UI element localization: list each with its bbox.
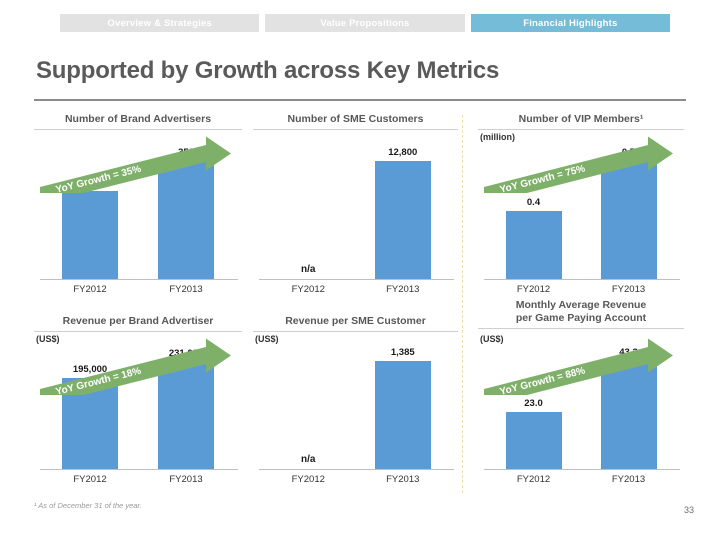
chart-title-sme-customers: Number of SME Customers xyxy=(253,113,458,126)
bar-brand-advertisers-FY2013 xyxy=(158,161,214,279)
chart-panel-brand-advertisers: Number of Brand Advertisers xyxy=(34,113,242,130)
page-title: Supported by Growth across Key Metrics xyxy=(36,57,499,85)
chart-unit-revenue-per-sme-customer: (US$) xyxy=(255,334,279,344)
chart-title-rule-vip-members xyxy=(478,129,684,130)
axis-label-sme-customers-FY2013: FY2013 xyxy=(353,284,453,295)
nav-tab-3[interactable]: Financial Highlights xyxy=(471,14,670,32)
axis-label-revenue-per-brand-advertiser-FY2012: FY2012 xyxy=(40,474,140,485)
axis-label-vip-members-FY2012: FY2012 xyxy=(484,284,584,295)
bar-monthly-arpu-game-FY2012 xyxy=(506,412,562,470)
chart-panel-revenue-per-brand-advertiser: Revenue per Brand Advertiser xyxy=(34,315,242,332)
axis-label-revenue-per-sme-customer-FY2012: FY2012 xyxy=(258,474,358,485)
chart-title-monthly-arpu-game: Monthly Average Revenue per Game Paying … xyxy=(478,299,684,325)
axis-label-brand-advertisers-FY2013: FY2013 xyxy=(136,284,236,295)
axis-label-monthly-arpu-game-FY2012: FY2012 xyxy=(484,474,584,485)
chart-unit-revenue-per-brand-advertiser: (US$) xyxy=(36,334,60,344)
bar-value-revenue-per-brand-advertiser-FY2013: 231,000 xyxy=(136,348,236,359)
axis-label-monthly-arpu-game-FY2013: FY2013 xyxy=(579,474,679,485)
chart-axis-sme-customers xyxy=(259,279,454,280)
bar-sme-customers-FY2013 xyxy=(375,161,431,279)
bar-vip-members-FY2013 xyxy=(601,161,657,279)
chart-unit-vip-members: (million) xyxy=(480,132,515,142)
chart-title-rule-brand-advertisers xyxy=(34,129,242,130)
chart-axis-brand-advertisers xyxy=(40,279,238,280)
footnote: ¹ As of December 31 of the year. xyxy=(34,501,142,510)
nav-tab-2[interactable]: Value Propositions xyxy=(265,14,464,32)
bar-revenue-per-sme-customer-FY2013 xyxy=(375,361,431,469)
chart-title-rule-revenue-per-sme-customer xyxy=(253,331,458,332)
chart-panel-sme-customers: Number of SME Customers xyxy=(253,113,458,130)
bar-vip-members-FY2012 xyxy=(506,211,562,279)
axis-label-brand-advertisers-FY2012: FY2012 xyxy=(40,284,140,295)
chart-title-rule-sme-customers xyxy=(253,129,458,130)
bar-value-vip-members-FY2013: 0.7 xyxy=(579,147,679,158)
bar-value-brand-advertisers-FY2013: 350 xyxy=(136,147,236,158)
chart-title-brand-advertisers: Number of Brand Advertisers xyxy=(34,113,242,126)
chart-axis-monthly-arpu-game xyxy=(484,469,680,470)
nav-tab-1[interactable]: Overview & Strategies xyxy=(60,14,259,32)
bar-brand-advertisers-FY2012 xyxy=(62,191,118,279)
chart-title-rule-monthly-arpu-game xyxy=(478,328,684,329)
page-number: 33 xyxy=(684,505,694,515)
chart-title-revenue-per-brand-advertiser: Revenue per Brand Advertiser xyxy=(34,315,242,328)
chart-title-rule-revenue-per-brand-advertiser xyxy=(34,331,242,332)
axis-label-revenue-per-sme-customer-FY2013: FY2013 xyxy=(353,474,453,485)
bar-value-monthly-arpu-game-FY2013: 43.3 xyxy=(579,347,679,358)
axis-label-revenue-per-brand-advertiser-FY2013: FY2013 xyxy=(136,474,236,485)
bar-value-sme-customers-FY2013: 12,800 xyxy=(353,147,453,158)
chart-unit-monthly-arpu-game: (US$) xyxy=(480,334,504,344)
chart-panel-vip-members: Number of VIP Members¹ xyxy=(478,113,684,130)
chart-axis-vip-members xyxy=(484,279,680,280)
bar-revenue-per-brand-advertiser-FY2013 xyxy=(158,362,214,469)
axis-label-vip-members-FY2013: FY2013 xyxy=(579,284,679,295)
nav-tab-bar: Overview & StrategiesValue PropositionsF… xyxy=(60,14,670,32)
chart-axis-revenue-per-sme-customer xyxy=(259,469,454,470)
axis-label-sme-customers-FY2012: FY2012 xyxy=(258,284,358,295)
chart-panel-revenue-per-sme-customer: Revenue per SME Customer xyxy=(253,315,458,332)
chart-title-revenue-per-sme-customer: Revenue per SME Customer xyxy=(253,315,458,328)
bar-monthly-arpu-game-FY2013 xyxy=(601,361,657,469)
title-divider xyxy=(34,99,686,101)
bar-value-revenue-per-sme-customer-FY2012: n/a xyxy=(258,454,358,465)
bar-value-monthly-arpu-game-FY2012: 23.0 xyxy=(484,398,584,409)
bar-value-revenue-per-sme-customer-FY2013: 1,385 xyxy=(353,347,453,358)
bar-value-sme-customers-FY2012: n/a xyxy=(258,264,358,275)
growth-arrow-label-vip-members: YoY Growth = 75% xyxy=(499,164,587,196)
bar-value-vip-members-FY2012: 0.4 xyxy=(484,197,584,208)
chart-title-vip-members: Number of VIP Members¹ xyxy=(478,113,684,126)
growth-arrow-label-monthly-arpu-game: YoY Growth = 88% xyxy=(499,366,587,398)
chart-axis-revenue-per-brand-advertiser xyxy=(40,469,238,470)
chart-panel-monthly-arpu-game: Monthly Average Revenue per Game Paying … xyxy=(478,299,684,329)
column-divider xyxy=(462,115,463,493)
